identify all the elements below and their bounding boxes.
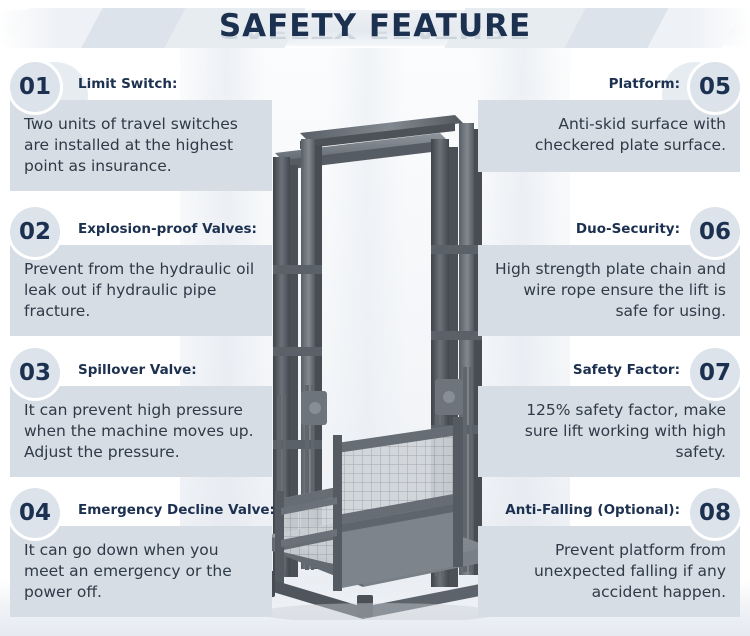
feature-label: Spillover Valve: bbox=[78, 362, 197, 378]
hydraulic-cargo-lift-illustration bbox=[245, 95, 510, 620]
safety-feature-infographic: SAFETY FEATURE SAFETY FEATURE bbox=[0, 0, 750, 636]
feature-item-06[interactable]: 06 Duo-Security: High strength plate cha… bbox=[478, 207, 740, 336]
feature-item-01[interactable]: 01 Limit Switch: Two units of travel swi… bbox=[10, 62, 272, 191]
feature-label: Explosion-proof Valves: bbox=[78, 221, 257, 237]
feature-item-07[interactable]: 07 Safety Factor: 125% safety factor, ma… bbox=[478, 348, 740, 477]
feature-number-badge: 01 bbox=[10, 62, 60, 112]
feature-number-badge: 02 bbox=[10, 207, 60, 257]
feature-label: Anti-Falling (Optional): bbox=[505, 502, 680, 518]
feature-item-02[interactable]: 02 Explosion-proof Valves: Prevent from … bbox=[10, 207, 272, 336]
feature-description: Two units of travel switches are install… bbox=[10, 100, 272, 191]
feature-label: Safety Factor: bbox=[573, 362, 680, 378]
feature-description: It can go down when you meet an emergenc… bbox=[10, 526, 272, 617]
feature-item-04[interactable]: 04 Emergency Decline Valve: It can go do… bbox=[10, 488, 272, 617]
feature-label: Limit Switch: bbox=[78, 76, 177, 92]
feature-label: Platform: bbox=[609, 76, 680, 92]
feature-description: Prevent platform from unexpected falling… bbox=[478, 526, 740, 617]
feature-number-badge: 08 bbox=[690, 488, 740, 538]
feature-number-badge: 04 bbox=[10, 488, 60, 538]
feature-description: Prevent from the hydraulic oil leak out … bbox=[10, 245, 272, 336]
feature-number-badge: 07 bbox=[690, 348, 740, 398]
feature-description: 125% safety factor, make sure lift worki… bbox=[478, 386, 740, 477]
feature-item-03[interactable]: 03 Spillover Valve: It can prevent high … bbox=[10, 348, 272, 477]
feature-item-05[interactable]: 05 Platform: Anti-skid surface with chec… bbox=[478, 62, 740, 172]
feature-label: Emergency Decline Valve: bbox=[78, 502, 275, 518]
feature-label: Duo-Security: bbox=[576, 221, 680, 237]
feature-description: It can prevent high pressure when the ma… bbox=[10, 386, 272, 477]
feature-item-08[interactable]: 08 Anti-Falling (Optional): Prevent plat… bbox=[478, 488, 740, 617]
feature-number-badge: 06 bbox=[690, 207, 740, 257]
page-title: SAFETY FEATURE bbox=[0, 8, 750, 44]
feature-number-badge: 05 bbox=[690, 62, 740, 112]
feature-description: High strength plate chain and wire rope … bbox=[478, 245, 740, 336]
feature-description: Anti-skid surface with checkered plate s… bbox=[478, 100, 740, 172]
feature-number-badge: 03 bbox=[10, 348, 60, 398]
